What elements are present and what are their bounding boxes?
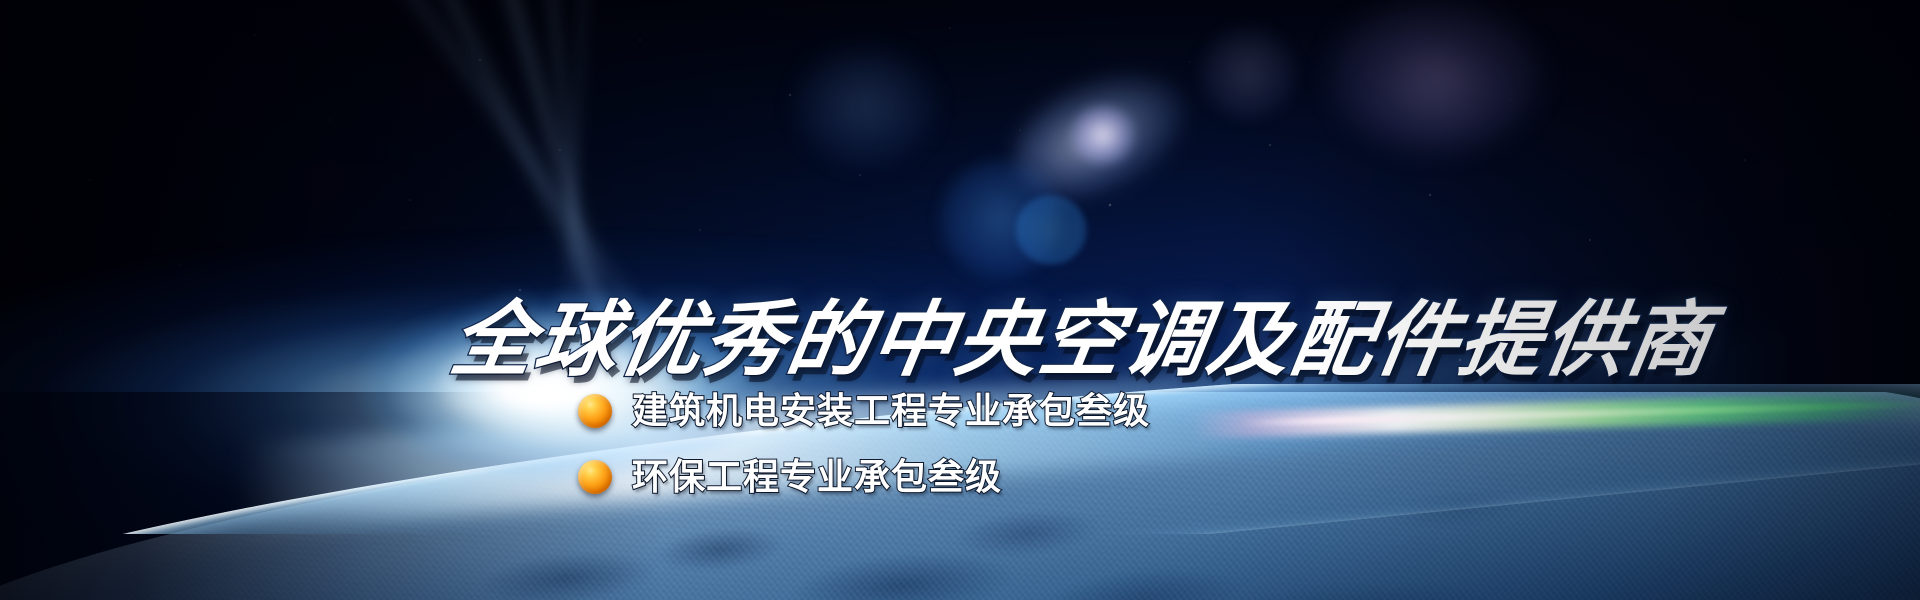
list-item: 环保工程专业承包叁级 <box>578 449 1150 505</box>
orange-bullet-dot-icon <box>578 460 612 494</box>
list-item: 建筑机电安装工程专业承包叁级 <box>578 383 1150 439</box>
banner-headline: 全球优秀的中央空调及配件提供商 <box>444 293 1719 389</box>
banner-content: 全球优秀的中央空调及配件提供商 建筑机电安装工程专业承包叁级 环保工程专业承包叁… <box>0 0 1920 600</box>
orange-bullet-dot-icon <box>578 394 612 428</box>
hero-banner: 全球优秀的中央空调及配件提供商 建筑机电安装工程专业承包叁级 环保工程专业承包叁… <box>0 0 1920 600</box>
qualification-label: 建筑机电安装工程专业承包叁级 <box>632 391 1150 431</box>
qualification-list: 建筑机电安装工程专业承包叁级 环保工程专业承包叁级 <box>578 383 1150 515</box>
qualification-label: 环保工程专业承包叁级 <box>632 457 1002 497</box>
